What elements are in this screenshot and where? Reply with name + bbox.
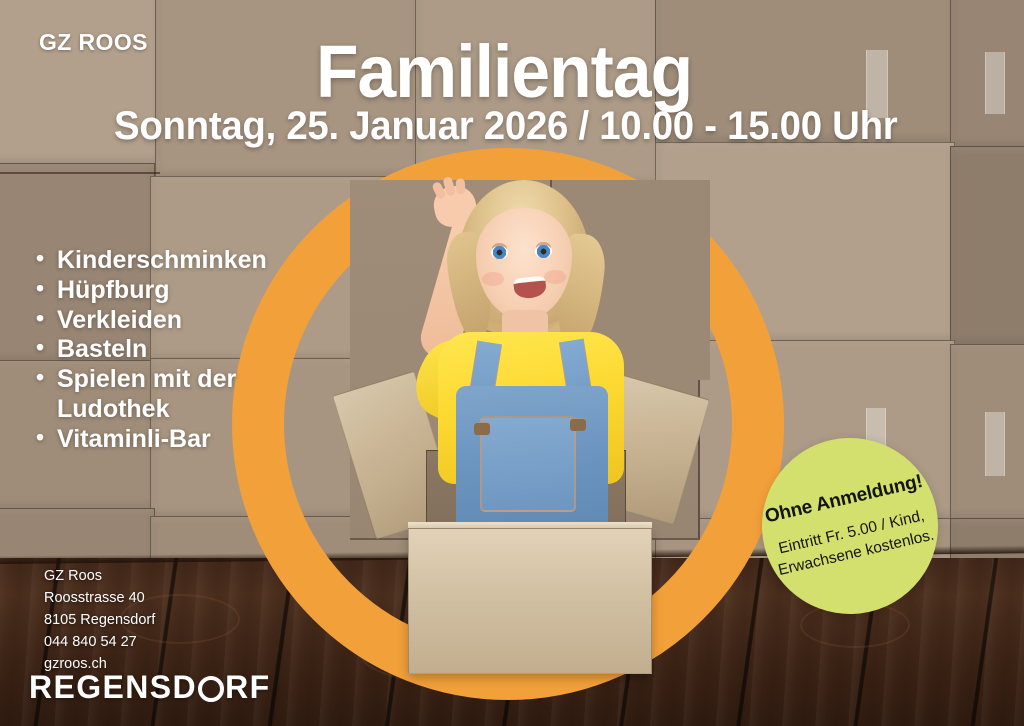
box-tape-strip [985, 52, 1005, 114]
child-cheek [544, 270, 566, 284]
address-street: Roosstrasse 40 [44, 587, 155, 609]
list-item-continuation: Ludothek [36, 395, 266, 425]
overall-bib-pocket [480, 416, 576, 512]
list-item: Vitaminli-Bar [36, 425, 266, 455]
box-tape-strip [985, 412, 1005, 476]
overall-buckle-left [474, 422, 490, 435]
logo-circle-o-icon [198, 676, 224, 702]
child-in-box-photo [330, 150, 710, 630]
address-name: GZ Roos [44, 565, 155, 587]
list-item: Spielen mit der [36, 365, 266, 395]
logo-text-part-two: RF [225, 669, 270, 706]
address-phone: 044 840 54 27 [44, 631, 155, 653]
list-item: Kinderschminken [36, 246, 266, 276]
child-cheek [482, 272, 504, 286]
poster-canvas: GZ ROOS Familientag Sonntag, 25. Januar … [0, 0, 1024, 726]
finger [456, 178, 466, 195]
child-eye-left [491, 246, 508, 259]
child-eye-right [535, 245, 552, 258]
activities-list: Kinderschminken Hüpfburg Verkleiden Bast… [36, 246, 266, 454]
event-datetime: Sonntag, 25. Januar 2026 / 10.00 - 15.00… [114, 106, 897, 146]
panel-seam [0, 172, 160, 174]
address-city: 8105 Regensdorf [44, 609, 155, 631]
overall-buckle-right [570, 418, 586, 431]
cardboard-box-front [408, 528, 652, 674]
page-title: Familientag [316, 36, 692, 109]
contact-address-block: GZ Roos Roosstrasse 40 8105 Regensdorf 0… [44, 565, 155, 675]
cardboard-panel [950, 146, 1024, 346]
list-item: Basteln [36, 335, 266, 365]
list-item: Verkleiden [36, 306, 266, 336]
logo-text-part-one: REGENSD [29, 669, 197, 706]
regensdorf-municipality-logo: REGENSD RF [29, 669, 271, 706]
list-item: Hüpfburg [36, 276, 266, 306]
organization-logo-text: GZ ROOS [39, 29, 148, 56]
